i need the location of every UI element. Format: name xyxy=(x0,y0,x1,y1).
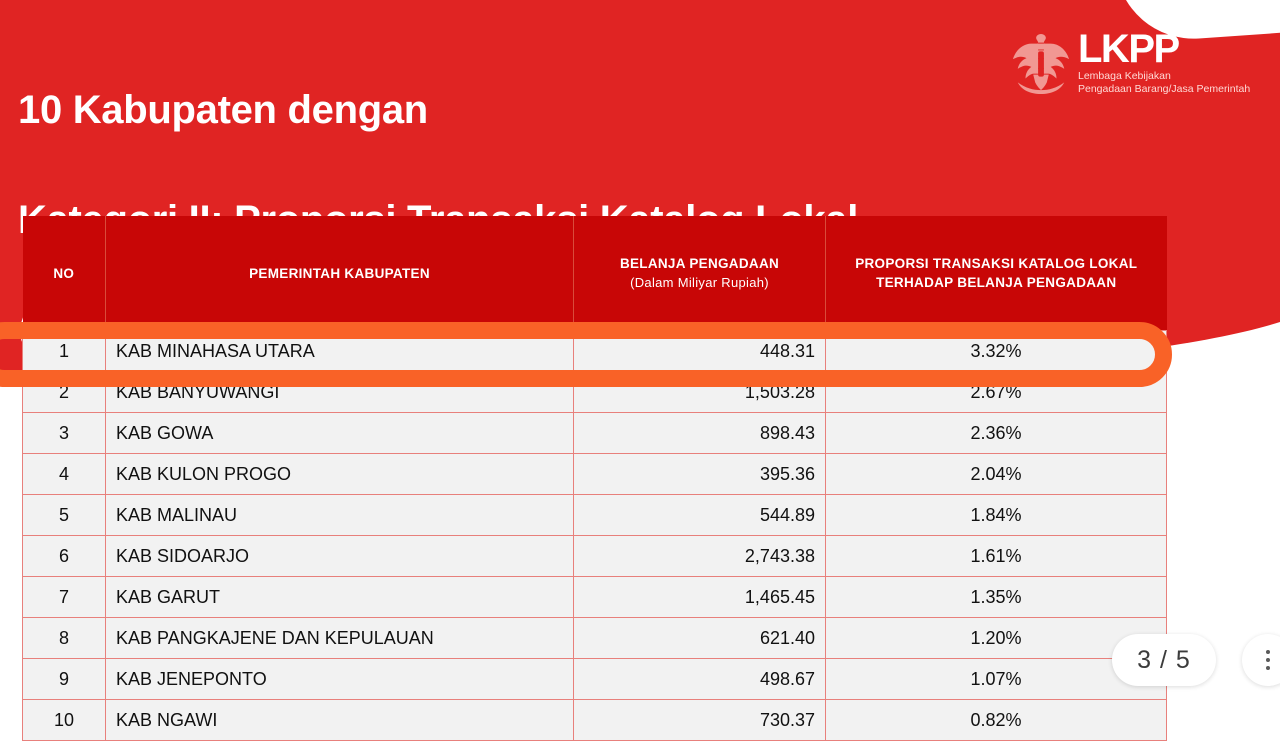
kebab-dot-3 xyxy=(1266,666,1270,670)
table-row: 4KAB KULON PROGO395.362.04% xyxy=(23,454,1167,495)
cell-name: KAB MINAHASA UTARA xyxy=(106,331,574,372)
lkpp-logo: LKPP Lembaga Kebijakan Pengadaan Barang/… xyxy=(1010,22,1260,104)
logo-subtitle: Lembaga Kebijakan Pengadaan Barang/Jasa … xyxy=(1078,70,1250,96)
cell-belanja: 730.37 xyxy=(574,700,826,741)
cell-proporsi: 1.35% xyxy=(826,577,1167,618)
cell-name: KAB GARUT xyxy=(106,577,574,618)
cell-no: 8 xyxy=(23,618,106,659)
cell-proporsi: 2.04% xyxy=(826,454,1167,495)
column-header-proporsi: PROPORSI TRANSAKSI KATALOG LOKAL TERHADA… xyxy=(826,216,1167,331)
kebab-dot-2 xyxy=(1266,658,1270,662)
cell-name: KAB MALINAU xyxy=(106,495,574,536)
ranking-table: NO PEMERINTAH KABUPATEN BELANJA PENGADAA… xyxy=(22,216,1167,741)
cell-belanja: 898.43 xyxy=(574,413,826,454)
cell-proporsi: 0.82% xyxy=(826,700,1167,741)
cell-belanja: 448.31 xyxy=(574,331,826,372)
slide-canvas: 10 Kabupaten dengan Kategori II: Propors… xyxy=(0,0,1280,747)
table-row: 6KAB SIDOARJO2,743.381.61% xyxy=(23,536,1167,577)
table-row: 9KAB JENEPONTO498.671.07% xyxy=(23,659,1167,700)
table-row: 5KAB MALINAU544.891.84% xyxy=(23,495,1167,536)
table-row: 1KAB MINAHASA UTARA448.313.32% xyxy=(23,331,1167,372)
table-row: 10KAB NGAWI730.370.82% xyxy=(23,700,1167,741)
cell-proporsi: 2.67% xyxy=(826,372,1167,413)
kebab-menu-icon[interactable] xyxy=(1242,634,1280,686)
cell-belanja: 544.89 xyxy=(574,495,826,536)
table-row: 3KAB GOWA898.432.36% xyxy=(23,413,1167,454)
cell-no: 1 xyxy=(23,331,106,372)
cell-proporsi: 1.84% xyxy=(826,495,1167,536)
cell-name: KAB KULON PROGO xyxy=(106,454,574,495)
cell-belanja: 621.40 xyxy=(574,618,826,659)
table-row: 7KAB GARUT1,465.451.35% xyxy=(23,577,1167,618)
cell-belanja: 1,503.28 xyxy=(574,372,826,413)
cell-no: 4 xyxy=(23,454,106,495)
cell-belanja: 2,743.38 xyxy=(574,536,826,577)
cell-no: 5 xyxy=(23,495,106,536)
cell-name: KAB PANGKAJENE DAN KEPULAUAN xyxy=(106,618,574,659)
column-header-belanja: BELANJA PENGADAAN (Dalam Miliyar Rupiah) xyxy=(574,216,826,331)
cell-no: 3 xyxy=(23,413,106,454)
cell-belanja: 1,465.45 xyxy=(574,577,826,618)
column-header-belanja-main: BELANJA PENGADAAN xyxy=(620,256,779,271)
cell-name: KAB GOWA xyxy=(106,413,574,454)
cell-proporsi: 3.32% xyxy=(826,331,1167,372)
ranking-table-wrapper: NO PEMERINTAH KABUPATEN BELANJA PENGADAA… xyxy=(22,216,1166,741)
cell-proporsi: 1.61% xyxy=(826,536,1167,577)
column-header-belanja-sub: (Dalam Miliyar Rupiah) xyxy=(580,273,819,292)
cell-name: KAB BANYUWANGI xyxy=(106,372,574,413)
table-header-row: NO PEMERINTAH KABUPATEN BELANJA PENGADAA… xyxy=(23,216,1167,331)
table-body: 1KAB MINAHASA UTARA448.313.32%2KAB BANYU… xyxy=(23,331,1167,741)
cell-belanja: 395.36 xyxy=(574,454,826,495)
cell-no: 2 xyxy=(23,372,106,413)
table-row: 2KAB BANYUWANGI1,503.282.67% xyxy=(23,372,1167,413)
cell-no: 6 xyxy=(23,536,106,577)
kebab-dot-1 xyxy=(1266,650,1270,654)
page-indicator: 3 / 5 xyxy=(1112,634,1216,686)
cell-belanja: 498.67 xyxy=(574,659,826,700)
table-row: 8KAB PANGKAJENE DAN KEPULAUAN621.401.20% xyxy=(23,618,1167,659)
cell-no: 9 xyxy=(23,659,106,700)
title-line-1: 10 Kabupaten dengan xyxy=(18,83,998,138)
table-head: NO PEMERINTAH KABUPATEN BELANJA PENGADAA… xyxy=(23,216,1167,331)
cell-proporsi: 2.36% xyxy=(826,413,1167,454)
logo-wordmark: LKPP xyxy=(1078,31,1250,67)
garuda-emblem-icon xyxy=(1010,30,1072,96)
cell-name: KAB SIDOARJO xyxy=(106,536,574,577)
cell-name: KAB NGAWI xyxy=(106,700,574,741)
column-header-no: NO xyxy=(23,216,106,331)
cell-name: KAB JENEPONTO xyxy=(106,659,574,700)
logo-text-block: LKPP Lembaga Kebijakan Pengadaan Barang/… xyxy=(1078,31,1250,96)
cell-no: 10 xyxy=(23,700,106,741)
column-header-kabupaten: PEMERINTAH KABUPATEN xyxy=(106,216,574,331)
cell-no: 7 xyxy=(23,577,106,618)
banner-corner-swoosh-secondary xyxy=(1190,0,1280,16)
